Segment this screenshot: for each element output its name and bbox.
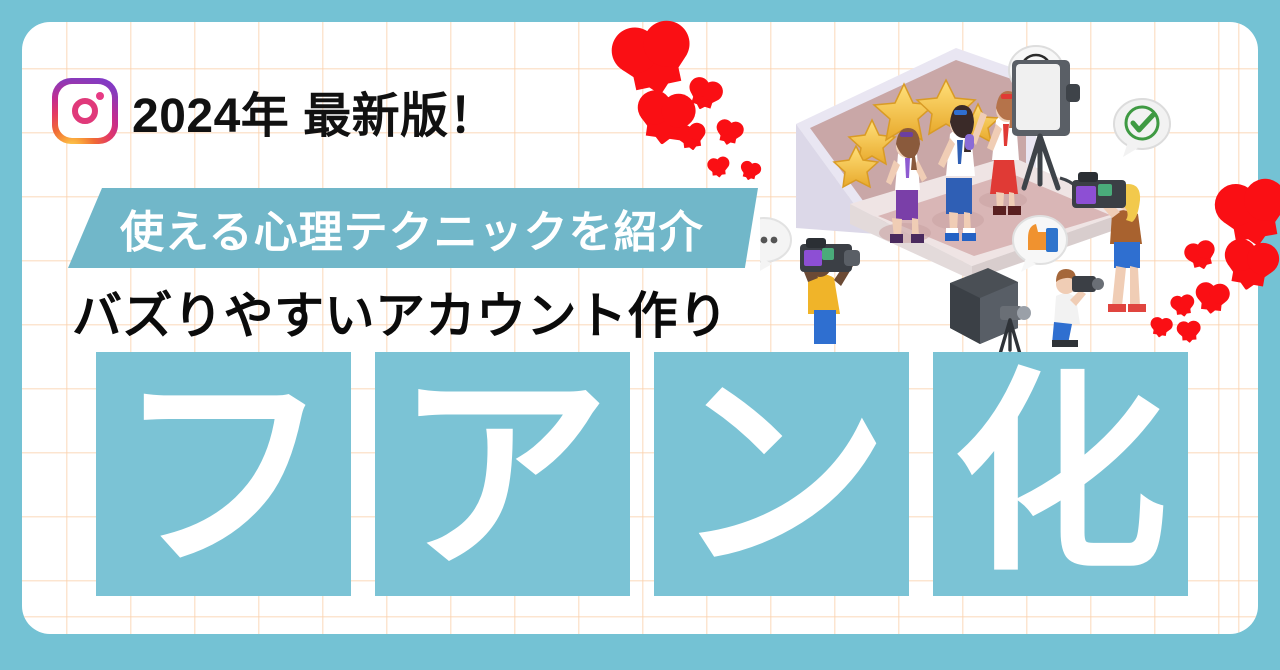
heart-icon bbox=[1175, 299, 1191, 315]
instagram-logo-icon bbox=[52, 78, 118, 144]
keyword-box: 化 bbox=[933, 352, 1188, 596]
header-row: 2024年 最新版！ bbox=[52, 76, 497, 146]
keyword-char: ン bbox=[674, 367, 889, 582]
keyword-char: ア bbox=[395, 367, 610, 582]
heart-icon bbox=[1231, 249, 1268, 286]
idol-stage-illustration bbox=[760, 28, 1220, 358]
ribbon-banner: 使える心理テクニックを紹介 bbox=[68, 188, 758, 268]
heart-icon bbox=[1153, 321, 1168, 336]
keyword-box-group: フ ア ン 化 bbox=[96, 352, 1188, 596]
heart-icon bbox=[682, 129, 701, 148]
heart-icon bbox=[1229, 193, 1278, 242]
keyword-box: ア bbox=[375, 352, 630, 596]
heart-icon bbox=[1182, 326, 1197, 341]
banner-root: 2024年 最新版！ 使える心理テクニックを紹介 バズりやすいアカウント作り フ… bbox=[0, 0, 1280, 670]
keyword-box: フ bbox=[96, 352, 351, 596]
heart-icon bbox=[1201, 289, 1223, 311]
keyword-char: 化 bbox=[953, 367, 1168, 582]
heart-icon bbox=[720, 125, 739, 144]
heart-icon bbox=[711, 161, 725, 175]
keyword-box: ン bbox=[654, 352, 909, 596]
page-title: 2024年 最新版！ bbox=[132, 76, 497, 146]
ribbon-text: 使える心理テクニックを紹介 bbox=[120, 196, 704, 260]
subtitle-text: バズりやすいアカウント作り bbox=[72, 276, 729, 348]
heart-icon bbox=[627, 36, 682, 91]
keyword-char: フ bbox=[116, 367, 331, 582]
